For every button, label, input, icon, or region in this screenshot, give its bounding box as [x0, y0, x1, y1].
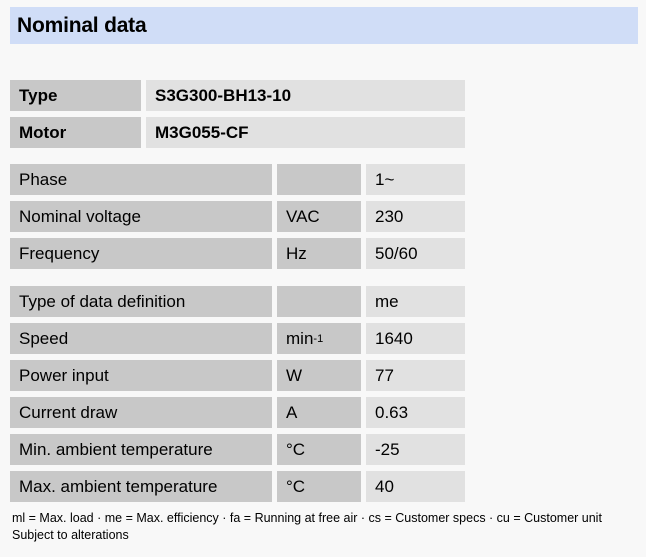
row-unit-current-draw: A	[277, 397, 361, 428]
row-label-speed: Speed	[10, 323, 272, 354]
row-value-current-draw: 0.63	[366, 397, 465, 428]
row-value-power-input: 77	[366, 360, 465, 391]
row-unit-speed: min-1	[277, 323, 361, 354]
row-label-min-ambient-temperature: Min. ambient temperature	[10, 434, 272, 465]
row-unit-frequency: Hz	[277, 238, 361, 269]
row-value-speed: 1640	[366, 323, 465, 354]
row-label-type-of-data-definition: Type of data definition	[10, 286, 272, 317]
row-label-current-draw: Current draw	[10, 397, 272, 428]
unit-base: min	[286, 329, 313, 349]
footnote: ml = Max. load · me = Max. efficiency · …	[12, 510, 640, 544]
table-row: Max. ambient temperature °C 40	[10, 471, 465, 502]
row-value-type-of-data-definition: me	[366, 286, 465, 317]
row-label-power-input: Power input	[10, 360, 272, 391]
performance-table: Type of data definition me Speed min-1 1…	[10, 286, 465, 502]
row-unit-min-ambient-temperature: °C	[277, 434, 361, 465]
row-label-nominal-voltage: Nominal voltage	[10, 201, 272, 232]
row-value-phase: 1~	[366, 164, 465, 195]
row-value-motor: M3G055-CF	[146, 117, 465, 148]
electrical-table: Phase 1~ Nominal voltage VAC 230 Frequen…	[10, 164, 465, 269]
row-unit-power-input: W	[277, 360, 361, 391]
row-label-frequency: Frequency	[10, 238, 272, 269]
row-value-type: S3G300-BH13-10	[146, 80, 465, 111]
table-row: Power input W 77	[10, 360, 465, 391]
row-value-nominal-voltage: 230	[366, 201, 465, 232]
identity-table: Type S3G300-BH13-10 Motor M3G055-CF	[10, 80, 465, 148]
row-unit-max-ambient-temperature: °C	[277, 471, 361, 502]
table-row: Min. ambient temperature °C -25	[10, 434, 465, 465]
row-unit-nominal-voltage: VAC	[277, 201, 361, 232]
table-row: Type of data definition me	[10, 286, 465, 317]
nominal-data-sheet: Nominal data Type S3G300-BH13-10 Motor M…	[0, 0, 646, 557]
row-label-type: Type	[10, 80, 141, 111]
footnote-disclaimer: Subject to alterations	[12, 527, 640, 544]
table-row: Frequency Hz 50/60	[10, 238, 465, 269]
row-label-motor: Motor	[10, 117, 141, 148]
table-row: Type S3G300-BH13-10	[10, 80, 465, 111]
row-value-min-ambient-temperature: -25	[366, 434, 465, 465]
row-unit-type-of-data-definition	[277, 286, 361, 317]
row-value-frequency: 50/60	[366, 238, 465, 269]
table-row: Motor M3G055-CF	[10, 117, 465, 148]
row-value-max-ambient-temperature: 40	[366, 471, 465, 502]
row-unit-phase	[277, 164, 361, 195]
table-row: Nominal voltage VAC 230	[10, 201, 465, 232]
page-title: Nominal data	[10, 14, 146, 38]
table-row: Current draw A 0.63	[10, 397, 465, 428]
footnote-abbreviations: ml = Max. load · me = Max. efficiency · …	[12, 510, 640, 527]
row-label-max-ambient-temperature: Max. ambient temperature	[10, 471, 272, 502]
section-header-bar: Nominal data	[10, 7, 638, 44]
table-row: Speed min-1 1640	[10, 323, 465, 354]
row-label-phase: Phase	[10, 164, 272, 195]
table-row: Phase 1~	[10, 164, 465, 195]
